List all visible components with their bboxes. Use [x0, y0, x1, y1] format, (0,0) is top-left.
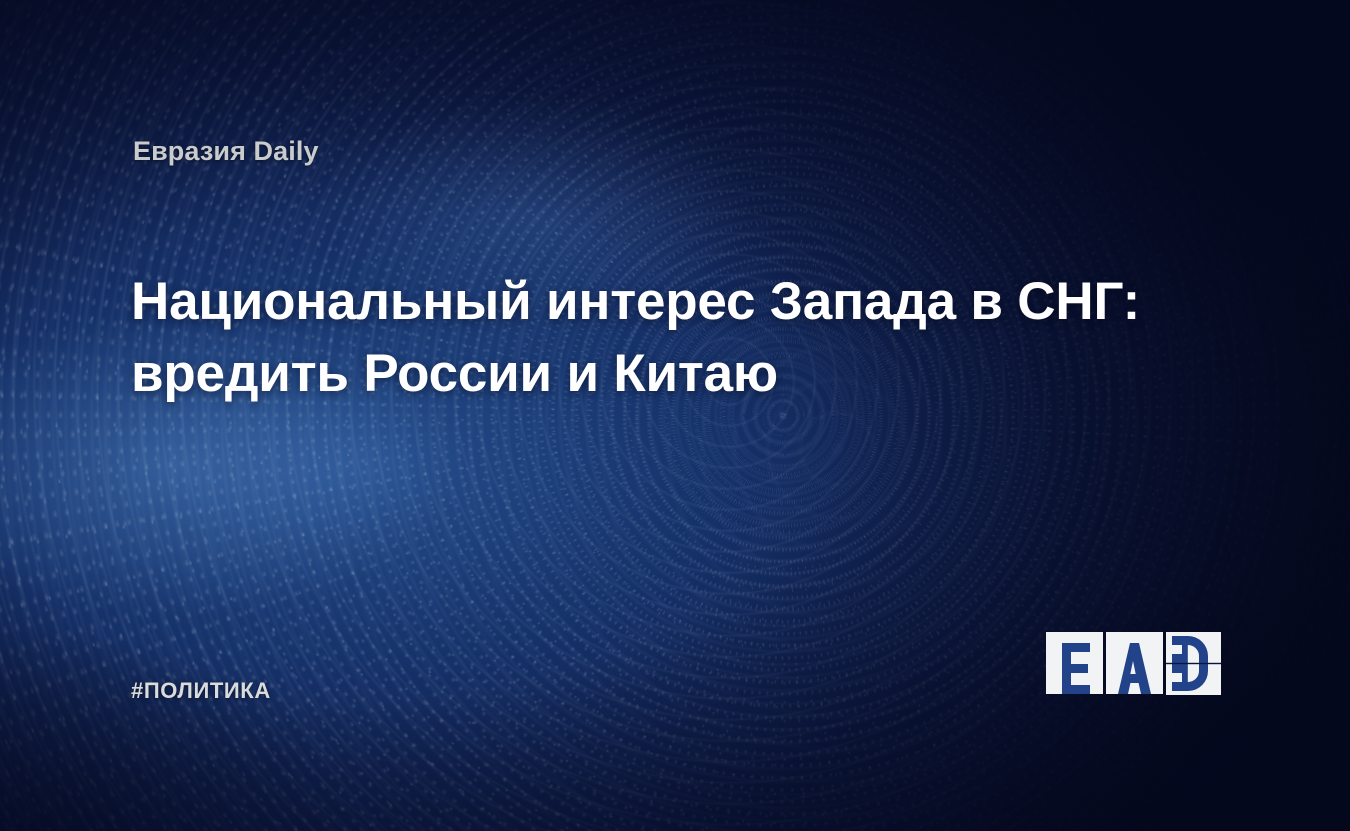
logo-tile-seam	[1166, 663, 1221, 665]
eadaily-logo	[1046, 624, 1221, 724]
category-hashtag: #ПОЛИТИКА	[131, 678, 271, 704]
logo-tile-e	[1046, 632, 1103, 694]
eadaily-logo-svg	[1046, 624, 1221, 724]
brand-name: Евразия Daily	[133, 136, 319, 167]
logo-letter-e	[1062, 643, 1090, 694]
social-share-card: Евразия Daily Национальный интерес Запад…	[0, 0, 1350, 831]
headline: Национальный интерес Запада в СНГ: вреди…	[131, 266, 1191, 410]
card-content: Евразия Daily Национальный интерес Запад…	[0, 0, 1350, 831]
